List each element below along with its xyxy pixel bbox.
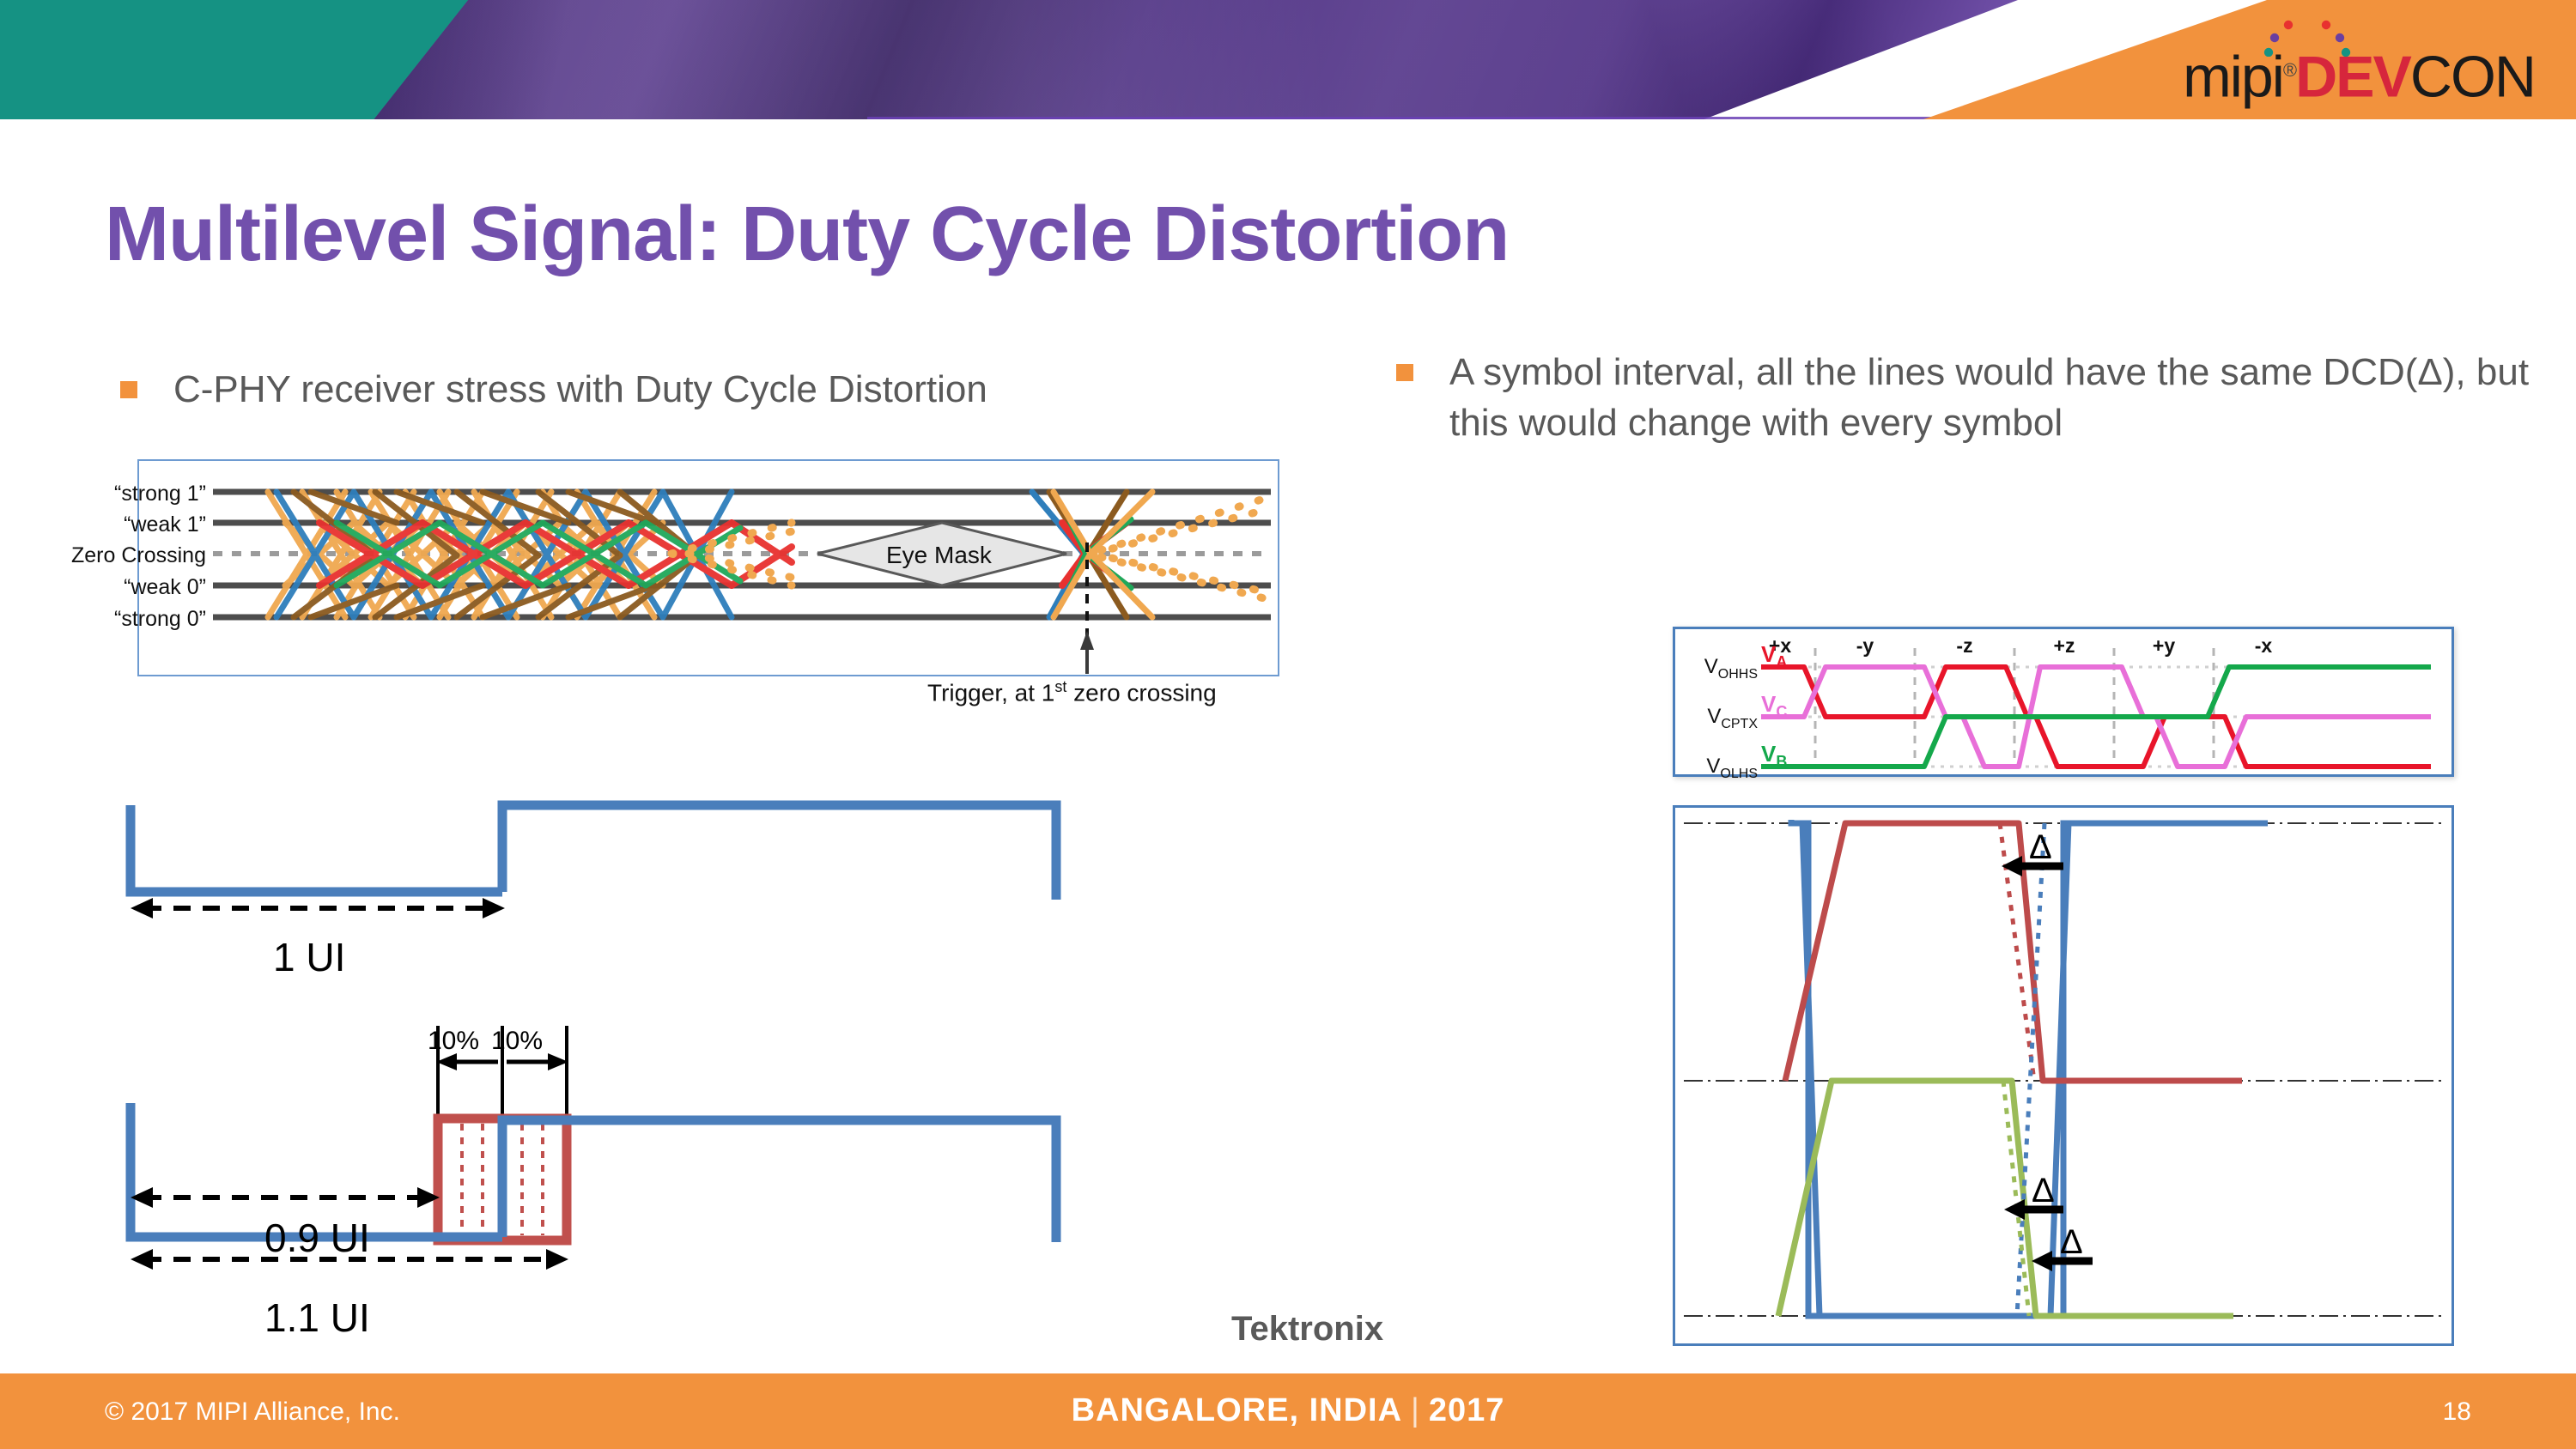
trace-legend-va: VA [1761, 641, 1787, 671]
delta-label-3: Δ [2060, 1223, 2083, 1262]
logo-dot-arc-icon [2251, 15, 2363, 57]
banner-white-strip [0, 119, 2576, 125]
label-1ui: 1 UI [273, 934, 345, 980]
trigger-annotation: Trigger, at 1st zero crossing [927, 678, 1217, 706]
voltage-label-ohhs-main: V [1704, 655, 1718, 678]
trace-legend-vc-sub: C [1776, 703, 1787, 720]
footer-year-text: 2017 [1429, 1392, 1505, 1428]
trace-legend-vb-name: V [1761, 741, 1776, 767]
trace-legend-va-name: V [1761, 641, 1776, 667]
trace-legend-vc: VC [1761, 691, 1787, 721]
voltage-label-olhs-main: V [1706, 755, 1720, 778]
trace-legend-va-sub: A [1776, 653, 1787, 670]
footer-location-text: BANGALORE, INDIA [1072, 1392, 1402, 1428]
delta-label-2: Δ [2032, 1172, 2055, 1210]
eye-level-label-weak1: “weak 1” [9, 512, 206, 537]
dcd-delta-plot [1675, 808, 2451, 1343]
eye-level-label-strong0: “strong 0” [9, 607, 206, 632]
cphy-symbol-waveform-panel: +x -y -z +z +y -x VOHHS VCPTX VOLHS VA V… [1673, 627, 2454, 777]
banner-purple-shape [369, 0, 2018, 125]
label-pct-right: 10% [491, 1027, 543, 1056]
trigger-text-sup: st [1054, 678, 1066, 695]
symbol-label-2: -z [1956, 634, 1972, 658]
delta-label-1: Δ [2029, 828, 2052, 867]
footer-separator: | [1402, 1392, 1429, 1428]
logo-con-text: CON [2410, 45, 2535, 110]
voltage-label-ohhs-sub: OHHS [1718, 667, 1758, 682]
waveform-dcd-mask [120, 1017, 1082, 1326]
label-pct-left: 10% [428, 1027, 479, 1056]
bullet-right-text: A symbol interval, all the lines would h… [1449, 347, 2538, 449]
voltage-label-ohhs: VOHHS [1675, 655, 1758, 682]
trace-legend-vc-name: V [1761, 691, 1776, 717]
voltage-label-olhs-sub: OLHS [1720, 767, 1758, 781]
label-11ui: 1.1 UI [264, 1294, 370, 1341]
bullet-square-icon [120, 381, 137, 398]
voltage-label-cptx-main: V [1707, 705, 1721, 728]
trace-legend-vb: VB [1761, 741, 1787, 771]
eye-level-label-strong1: “strong 1” [9, 482, 206, 506]
footer-event-location: BANGALORE, INDIA|2017 [1072, 1392, 1505, 1429]
mipi-devcon-logo: mipi®DEVCON [2054, 12, 2535, 106]
label-09ui: 0.9 UI [264, 1215, 370, 1261]
bullet-right: A symbol interval, all the lines would h… [1396, 347, 2538, 449]
voltage-label-cptx: VCPTX [1675, 705, 1758, 732]
eye-diagram-panel: “strong 1” “weak 1” Zero Crossing “weak … [137, 459, 1279, 676]
eye-mask-label: Eye Mask [886, 542, 992, 569]
trace-legend-vb-sub: B [1776, 753, 1787, 770]
attribution-tektronix: Tektronix [1231, 1310, 1383, 1349]
dcd-delta-waveform-panel: Δ Δ Δ [1673, 805, 2454, 1346]
eye-level-label-zero: Zero Crossing [9, 543, 206, 568]
symbol-label-3: +z [2054, 634, 2075, 658]
trace-green-dcd [1778, 1081, 2233, 1316]
page-title: Multilevel Signal: Duty Cycle Distortion [105, 191, 2166, 279]
trigger-text-post: zero crossing [1066, 679, 1216, 706]
symbol-label-4: +y [2153, 634, 2175, 658]
symbol-label-5: -x [2255, 634, 2272, 658]
logo-wordmark: mipi®DEVCON [2183, 41, 2535, 106]
bullet-left: C-PHY receiver stress with Duty Cycle Di… [120, 364, 1322, 415]
eye-diagram-plot [139, 461, 1278, 675]
symbol-label-1: -y [1856, 634, 1874, 658]
footer-copyright: © 2017 MIPI Alliance, Inc. [105, 1397, 400, 1427]
eye-level-label-weak0: “weak 0” [9, 575, 206, 600]
footer-page-number: 18 [2443, 1397, 2471, 1427]
trigger-text-pre: Trigger, at 1 [927, 679, 1054, 706]
footer-bar: © 2017 MIPI Alliance, Inc. BANGALORE, IN… [0, 1373, 2576, 1449]
waveform-ideal-1ui [120, 790, 1082, 961]
voltage-label-olhs: VOLHS [1675, 755, 1758, 782]
voltage-label-cptx-sub: CPTX [1721, 717, 1758, 731]
bullet-square-icon [1396, 364, 1413, 381]
logo-registered-icon: ® [2283, 59, 2295, 81]
bullet-left-text: C-PHY receiver stress with Duty Cycle Di… [173, 364, 987, 415]
